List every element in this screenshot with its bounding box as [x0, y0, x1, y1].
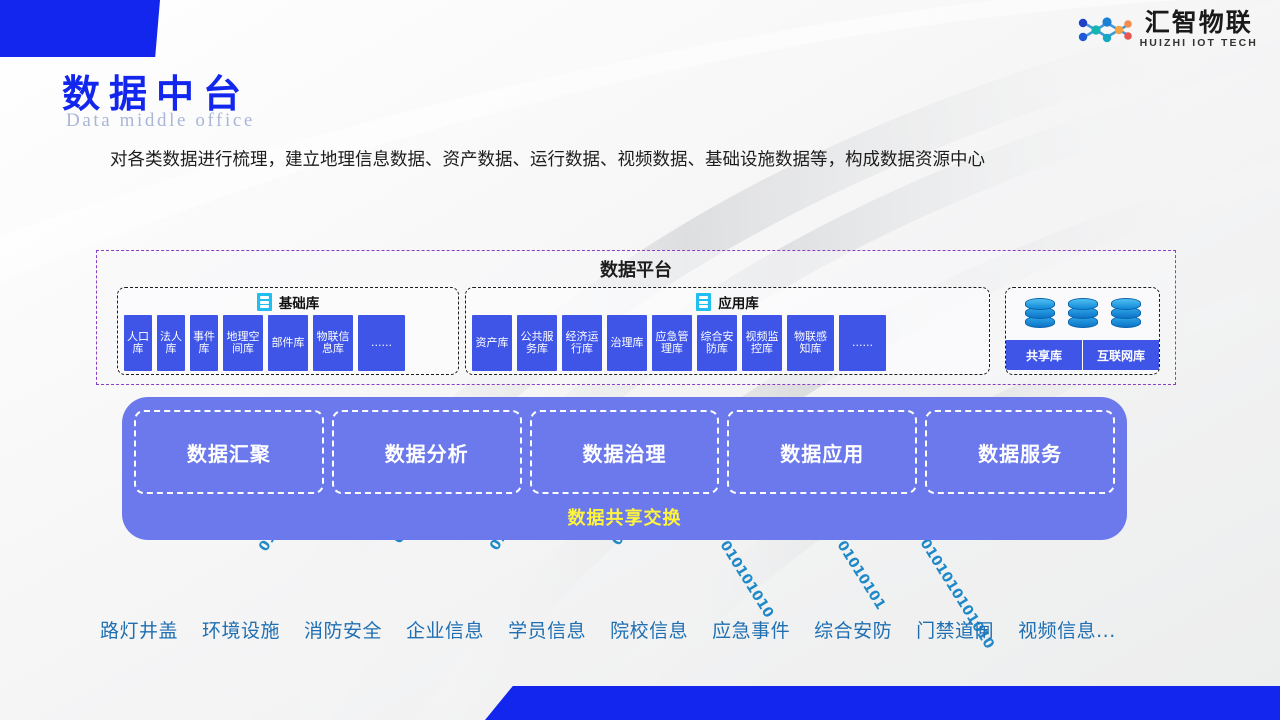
application-library-chip-4[interactable]: 治理库 — [607, 315, 647, 371]
basic-library-title: 基础库 — [279, 292, 320, 312]
application-library-header: 应用库 — [466, 291, 989, 312]
basic-library-chip-list: 人口库法人库事件库地理空间库部件库物联信息库...... — [118, 312, 458, 371]
molecule-network-icon — [1076, 12, 1132, 48]
application-library-chip-6[interactable]: 综合安防库 — [697, 315, 737, 371]
domain-tag-6[interactable]: 院校信息 — [610, 616, 688, 643]
page-subtitle: Data middle office — [66, 110, 255, 132]
page-description: 对各类数据进行梳理，建立地理信息数据、资产数据、运行数据、视频数据、基础设施数据… — [110, 139, 1175, 182]
capability-card-list: 数据汇聚数据分析数据治理数据应用数据服务 — [122, 397, 1127, 494]
database-label-1[interactable]: 共享库 — [1006, 340, 1082, 370]
domain-tag-8[interactable]: 综合安防 — [814, 616, 892, 643]
data-share-exchange-label: 数据共享交换 — [122, 504, 1127, 530]
server-rack-icon — [696, 293, 711, 311]
basic-library-chip-3[interactable]: 事件库 — [190, 315, 218, 371]
database-cylinder-icon — [1025, 298, 1055, 330]
domain-tag-4[interactable]: 企业信息 — [406, 616, 484, 643]
server-rack-icon — [257, 293, 272, 311]
bottom-accent-banner — [485, 686, 1280, 720]
binary-decoration-6: 01010101 — [833, 538, 888, 613]
database-group-panel[interactable]: 共享库互联网库 — [1005, 287, 1160, 375]
domain-tag-10[interactable]: 视频信息... — [1018, 616, 1116, 643]
application-library-chip-9[interactable]: ...... — [839, 315, 886, 371]
data-platform-container: 数据平台 基础库 人口库法人库事件库地理空间库部件库物联信息库...... 应用… — [96, 250, 1176, 385]
application-library-chip-2[interactable]: 公共服务库 — [517, 315, 557, 371]
capability-card-4[interactable]: 数据应用 — [727, 410, 917, 494]
brand-name-en: HUIZHI IOT TECH — [1140, 36, 1258, 51]
basic-library-chip-6[interactable]: 物联信息库 — [313, 315, 353, 371]
domain-tag-9[interactable]: 门禁道闸 — [916, 616, 994, 643]
capability-card-3[interactable]: 数据治理 — [530, 410, 720, 494]
basic-library-chip-5[interactable]: 部件库 — [268, 315, 308, 371]
database-cylinder-icon — [1068, 298, 1098, 330]
capability-card-1[interactable]: 数据汇聚 — [134, 410, 324, 494]
basic-library-chip-2[interactable]: 法人库 — [157, 315, 185, 371]
brand-logo: 汇智物联 HUIZHI IOT TECH — [1076, 10, 1258, 51]
domain-tag-2[interactable]: 环境设施 — [202, 616, 280, 643]
domain-tag-7[interactable]: 应急事件 — [712, 616, 790, 643]
domain-tag-1[interactable]: 路灯井盖 — [100, 616, 178, 643]
application-library-chip-1[interactable]: 资产库 — [472, 315, 512, 371]
basic-library-chip-4[interactable]: 地理空间库 — [223, 315, 263, 371]
application-library-chip-8[interactable]: 物联感知库 — [787, 315, 834, 371]
basic-library-panel[interactable]: 基础库 人口库法人库事件库地理空间库部件库物联信息库...... — [117, 287, 459, 375]
database-icon-row — [1006, 288, 1159, 340]
domain-tag-3[interactable]: 消防安全 — [304, 616, 382, 643]
application-library-chip-7[interactable]: 视频监控库 — [742, 315, 782, 371]
application-library-title: 应用库 — [718, 292, 759, 312]
capability-card-5[interactable]: 数据服务 — [925, 410, 1115, 494]
basic-library-chip-7[interactable]: ...... — [358, 315, 405, 371]
application-library-chip-list: 资产库公共服务库经济运行库治理库应急管理库综合安防库视频监控库物联感知库....… — [466, 312, 989, 371]
database-label-2[interactable]: 互联网库 — [1082, 340, 1159, 370]
capability-card-2[interactable]: 数据分析 — [332, 410, 522, 494]
application-library-chip-3[interactable]: 经济运行库 — [562, 315, 602, 371]
database-label-row: 共享库互联网库 — [1006, 340, 1159, 370]
capability-band: 数据汇聚数据分析数据治理数据应用数据服务 数据共享交换 — [122, 397, 1127, 540]
application-library-panel[interactable]: 应用库 资产库公共服务库经济运行库治理库应急管理库综合安防库视频监控库物联感知库… — [465, 287, 990, 375]
application-library-chip-5[interactable]: 应急管理库 — [652, 315, 692, 371]
domain-tag-5[interactable]: 学员信息 — [508, 616, 586, 643]
database-cylinder-icon — [1111, 298, 1141, 330]
data-platform-title: 数据平台 — [97, 256, 1175, 282]
basic-library-chip-1[interactable]: 人口库 — [124, 315, 152, 371]
basic-library-header: 基础库 — [118, 291, 458, 312]
domain-tag-row: 路灯井盖环境设施消防安全企业信息学员信息院校信息应急事件综合安防门禁道闸视频信息… — [100, 616, 1190, 643]
top-left-accent-banner — [0, 0, 160, 57]
brand-name-cn: 汇智物联 — [1145, 10, 1253, 36]
binary-decoration-5: 010101010 — [716, 538, 776, 621]
